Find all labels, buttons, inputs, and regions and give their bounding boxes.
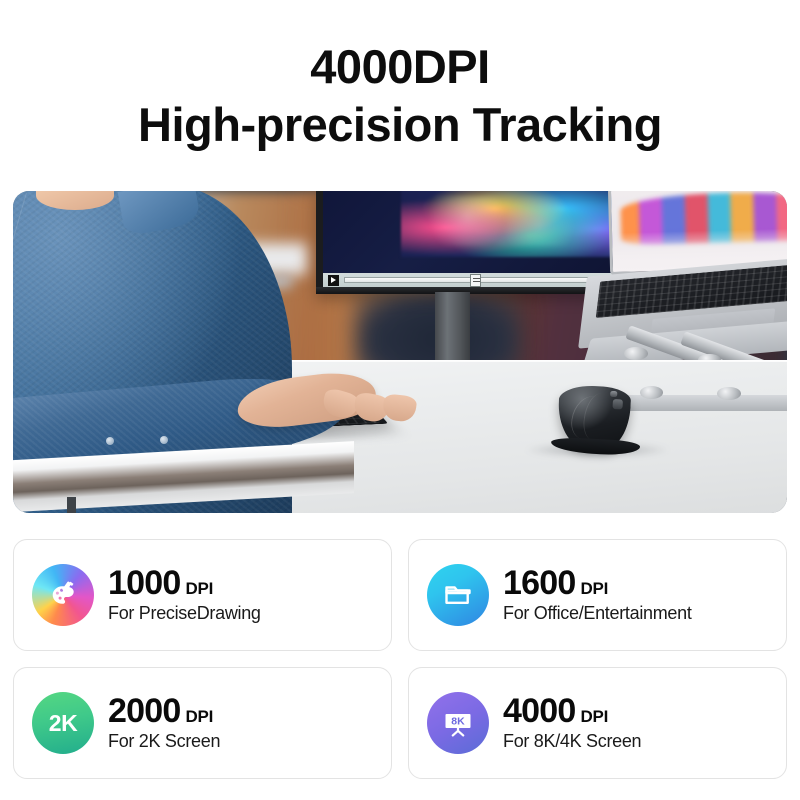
dpi-value: 2000 [108,694,180,730]
2k-badge-icon: 2K [32,692,94,754]
dpi-card-text: 1000 DPI For PreciseDrawing [108,566,261,624]
dpi-value-row: 4000 DPI [503,694,641,730]
dpi-subtitle: For Office/Entertainment [503,603,692,624]
product-feature-page: 4000DPI High-precision Tracking [0,0,800,800]
page-title-line-2: High-precision Tracking [0,96,800,154]
monitor-bezel [316,287,629,294]
dpi-unit: DPI [580,579,608,599]
hero-photo-scene [13,191,787,513]
palette-brush-icon [32,564,94,626]
laptop-stand-hinge [717,387,740,400]
laptop-stand-hinge [624,347,647,360]
dpi-subtitle: For PreciseDrawing [108,603,261,624]
dpi-subtitle: For 2K Screen [108,731,220,752]
vertical-ergonomic-mouse [551,386,644,454]
external-monitor [316,191,629,294]
dpi-card-1000: 1000 DPI For PreciseDrawing [13,539,392,651]
dpi-card-grid: 1000 DPI For PreciseDrawing 1600 DPI For… [13,539,787,779]
timeline-handle [470,274,481,287]
dpi-card-4000: 8K 4000 DPI For 8K/4K Screen [408,667,787,779]
mouse-scroll-wheel [611,391,618,397]
dpi-value-row: 1000 DPI [108,566,261,602]
svg-text:8K: 8K [451,716,465,728]
dpi-unit: DPI [185,707,213,727]
mouse-base [551,436,641,456]
hero-photo [13,191,787,513]
dpi-card-text: 4000 DPI For 8K/4K Screen [503,694,641,752]
page-title: 4000DPI High-precision Tracking [0,0,800,154]
folder-icon [427,564,489,626]
dpi-value-row: 1600 DPI [503,566,692,602]
timeline-scrubber [344,277,618,283]
mouse-side-button [612,399,623,409]
dpi-card-text: 1600 DPI For Office/Entertainment [503,566,692,624]
dpi-card-1600: 1600 DPI For Office/Entertainment [408,539,787,651]
dpi-card-text: 2000 DPI For 2K Screen [108,694,220,752]
dpi-value-row: 2000 DPI [108,694,220,730]
page-title-line-1: 4000DPI [0,38,800,96]
dpi-unit: DPI [185,579,213,599]
dpi-unit: DPI [580,707,608,727]
dpi-value: 1000 [108,566,180,602]
monitor-stand-neck [435,292,471,369]
2k-badge-label: 2K [49,710,77,737]
monitor-screen [323,191,623,274]
dpi-value: 1600 [503,566,575,602]
desk-leg [67,497,76,513]
monitor-artwork-highlight [413,196,593,246]
dpi-subtitle: For 8K/4K Screen [503,731,641,752]
play-icon [328,275,339,286]
cuff-button [160,436,168,444]
video-timeline-toolbar [323,273,623,287]
dpi-card-2000: 2K 2000 DPI For 2K Screen [13,667,392,779]
8k-monitor-icon: 8K [427,692,489,754]
dpi-value: 4000 [503,694,575,730]
